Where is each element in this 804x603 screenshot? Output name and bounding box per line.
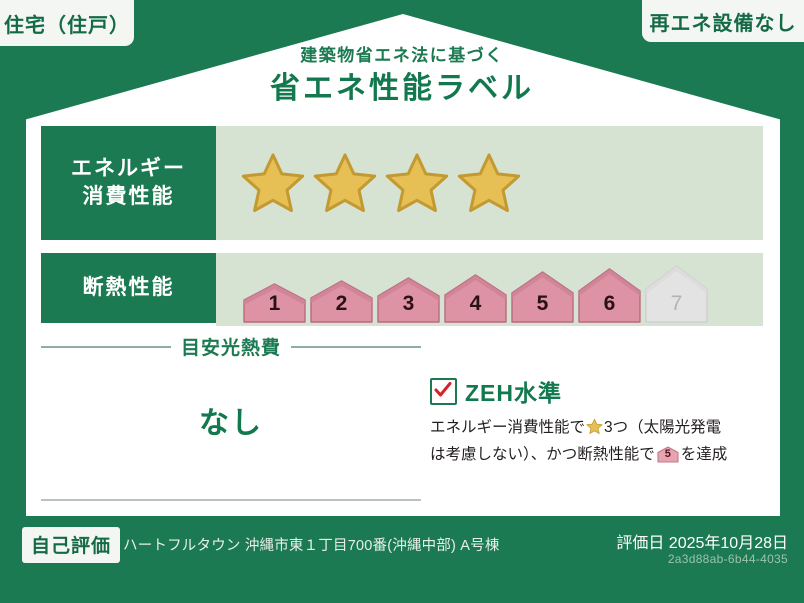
- insulation-badge-inline-value: 5: [657, 446, 679, 463]
- zeh-title: ZEH水準: [465, 374, 562, 408]
- utility-cost-heading: 目安光熱費: [41, 333, 421, 360]
- insulation-performance-scale: 1234567: [216, 253, 763, 326]
- zeh-desc-part3: を達成: [681, 446, 728, 463]
- insulation-performance-row: 断熱性能 1234567: [41, 253, 763, 323]
- building-type-tag-label: 住宅（住戸）: [4, 9, 130, 38]
- heading-rule-right: [291, 346, 421, 348]
- insulation-performance-label: 断熱性能: [41, 253, 216, 323]
- zeh-standard-block: ZEH水準 エネルギー消費性能で3つ（太陽光発電は考慮しない）、かつ断熱性能で5…: [430, 374, 766, 467]
- self-evaluation-badge: 自己評価: [22, 527, 120, 563]
- insulation-level-value: 2: [310, 292, 373, 316]
- energy-performance-label-line2: 消費性能: [83, 183, 175, 211]
- insulation-level-value: 7: [645, 292, 708, 316]
- insulation-level-value: 5: [511, 292, 574, 316]
- checkmark-icon: [430, 378, 457, 405]
- insulation-level-badge: 5: [511, 271, 574, 323]
- star-icon-inline: [586, 422, 603, 439]
- insulation-level-badge: 6: [578, 268, 641, 323]
- renewable-energy-tag-label: 再エネ設備なし: [650, 7, 797, 36]
- zeh-title-line: ZEH水準: [430, 374, 766, 408]
- zeh-desc-part2: は考慮しない）、かつ断熱性能で: [430, 446, 655, 463]
- insulation-badge-icon-inline: 5: [657, 446, 679, 463]
- property-name: ハートフルタウン 沖縄市東１丁目700番(沖縄中部) A号棟: [123, 534, 500, 555]
- zeh-description: エネルギー消費性能で3つ（太陽光発電は考慮しない）、かつ断熱性能で5を達成: [430, 416, 766, 467]
- insulation-level-badge: 3: [377, 277, 440, 323]
- star-icon: [456, 150, 522, 216]
- energy-performance-stars: [216, 126, 763, 240]
- label-footer: 自己評価 ハートフルタウン 沖縄市東１丁目700番(沖縄中部) A号棟 評価日 …: [0, 516, 804, 603]
- heading-rule-left: [41, 346, 171, 348]
- insulation-performance-label-text: 断熱性能: [83, 274, 175, 302]
- evaluation-date-value: 2025年10月28日: [669, 535, 788, 552]
- energy-performance-label-line1: エネルギー: [71, 155, 186, 183]
- label-title-block: 建築物省エネ法に基づく 省エネ性能ラベル: [0, 46, 804, 105]
- evaluation-id: 2a3d88ab-6b44-4035: [668, 552, 788, 566]
- utility-cost-value: なし: [41, 398, 421, 442]
- utility-cost-bottom-rule: [41, 499, 421, 501]
- utility-cost-section: 目安光熱費 なし: [41, 333, 421, 442]
- zeh-desc-star-count: 3つ（太陽光発電: [604, 419, 721, 436]
- utility-cost-heading-text: 目安光熱費: [181, 333, 281, 360]
- insulation-level-badge: 2: [310, 280, 373, 323]
- building-type-tag: 住宅（住戸）: [0, 0, 134, 46]
- evaluation-date: 評価日 2025年10月28日: [616, 529, 788, 553]
- star-icon: [312, 150, 378, 216]
- star-icon: [384, 150, 450, 216]
- star-icon: [240, 150, 306, 216]
- insulation-level-value: 4: [444, 292, 507, 316]
- insulation-level-value: 6: [578, 292, 641, 316]
- energy-performance-label: エネルギー 消費性能: [41, 126, 216, 240]
- insulation-level-value: 3: [377, 292, 440, 316]
- evaluation-date-label: 評価日: [616, 535, 664, 552]
- label-subtitle: 建築物省エネ法に基づく: [0, 46, 804, 66]
- energy-label-root: 住宅（住戸） 再エネ設備なし 建築物省エネ法に基づく 省エネ性能ラベル エネルギ…: [0, 0, 804, 603]
- insulation-level-badge: 4: [444, 274, 507, 323]
- zeh-desc-part1: エネルギー消費性能で: [430, 419, 585, 436]
- insulation-level-badge: 7: [645, 265, 708, 323]
- insulation-level-value: 1: [243, 292, 306, 316]
- energy-performance-row: エネルギー 消費性能: [41, 126, 763, 240]
- label-title: 省エネ性能ラベル: [0, 72, 804, 105]
- renewable-energy-tag: 再エネ設備なし: [642, 0, 804, 42]
- insulation-level-badge: 1: [243, 283, 306, 323]
